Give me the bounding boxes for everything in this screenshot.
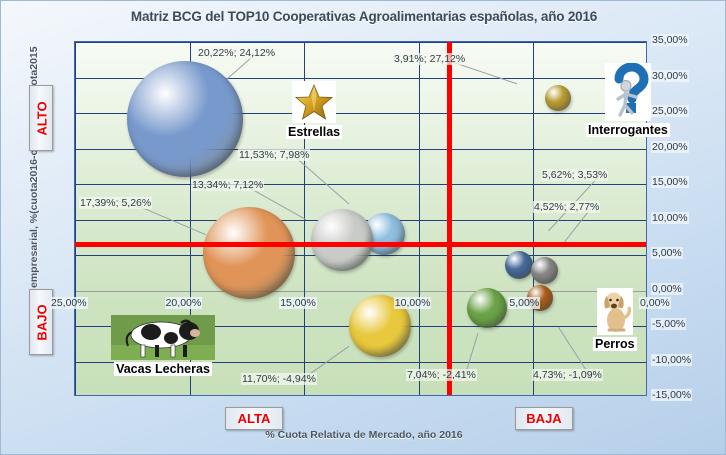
bubble-point[interactable] (545, 85, 571, 111)
y-tick-label: 15,00% (651, 176, 689, 188)
data-point-label: 5,62%; 3,53% (541, 169, 608, 181)
dog-icon (597, 288, 633, 335)
y-tick-label: 20,00% (651, 141, 689, 153)
page-title: Matriz BCG del TOP10 Cooperativas Agroal… (1, 9, 726, 24)
gold-star-icon (292, 81, 336, 123)
dairy-cow-icon (111, 315, 215, 360)
x-tick-label: 15,00% (279, 297, 317, 309)
quadrant-label-vacas: Vacas Lecheras (114, 362, 212, 376)
quadrant-label-interrogantes: Interrogantes (586, 123, 670, 137)
y-tick-label: 0,00% (651, 283, 683, 295)
x-tick-label: 5,00% (508, 297, 540, 309)
quadrant-card-perros: Perros (593, 288, 637, 353)
data-point-label: 17,39%; 5,26% (79, 197, 152, 209)
question-mark-icon (605, 63, 651, 121)
y-tick-label: 10,00% (651, 212, 689, 224)
data-point-label: 4,73%; -1,09% (532, 369, 603, 381)
bubble-point[interactable] (531, 257, 558, 284)
y-gridline (75, 291, 646, 292)
y-tick-label: -15,00% (651, 389, 692, 401)
bcg-matrix-chart: Matriz BCG del TOP10 Cooperativas Agroal… (0, 0, 726, 455)
y-gridline (75, 184, 646, 185)
data-point-label: 4,52%; 2,77% (533, 201, 600, 213)
x-axis-title: % Cuota Relativa de Mercado, año 2016 (214, 429, 514, 441)
data-point-label: 13,34%; 7,12% (191, 179, 264, 191)
bubble-point[interactable] (505, 251, 533, 279)
x-tick-label: 10,00% (394, 297, 432, 309)
y-tick-label: 5,00% (651, 247, 683, 259)
y-tick-label: -5,00% (651, 318, 686, 330)
y-tick-label: 35,00% (651, 34, 689, 46)
quadrant-card-estrellas: Estrellas (286, 81, 342, 141)
x-gridline (75, 42, 76, 395)
bubble-point[interactable] (311, 209, 373, 271)
data-point-label: 3,91%; 27,12% (393, 53, 466, 65)
quadrant-card-vacas: Vacas Lecheras (111, 315, 215, 378)
quadrant-label-perros: Perros (593, 337, 637, 351)
data-point-label: 11,53%; 7,98% (238, 149, 310, 161)
bubble-point[interactable] (127, 61, 243, 177)
data-point-label: 20,22%; 24,12% (197, 47, 276, 59)
y-axis-high-badge: ALTO (29, 85, 53, 151)
x-axis-low-badge: BAJA (515, 407, 573, 430)
data-point-label: 11,70%; -4,94% (241, 373, 317, 385)
bubble-point[interactable] (203, 207, 295, 299)
y-gridline (75, 42, 646, 43)
quadrant-card-interrogantes: Interrogantes (586, 63, 670, 139)
horizontal-divider (74, 242, 647, 247)
x-gridline (419, 42, 420, 395)
data-point-label: 7,04%; -2,41% (406, 369, 477, 381)
bubble-point[interactable] (467, 288, 507, 328)
quadrant-label-estrellas: Estrellas (286, 125, 342, 139)
x-tick-label: 20,00% (165, 297, 203, 309)
x-tick-label: 25,00% (50, 297, 88, 309)
vertical-divider (447, 41, 452, 396)
x-axis-high-badge: ALTA (225, 407, 283, 430)
x-gridline (533, 42, 534, 395)
x-tick-label: 0,00% (639, 297, 671, 309)
y-tick-label: -10,00% (651, 354, 692, 366)
